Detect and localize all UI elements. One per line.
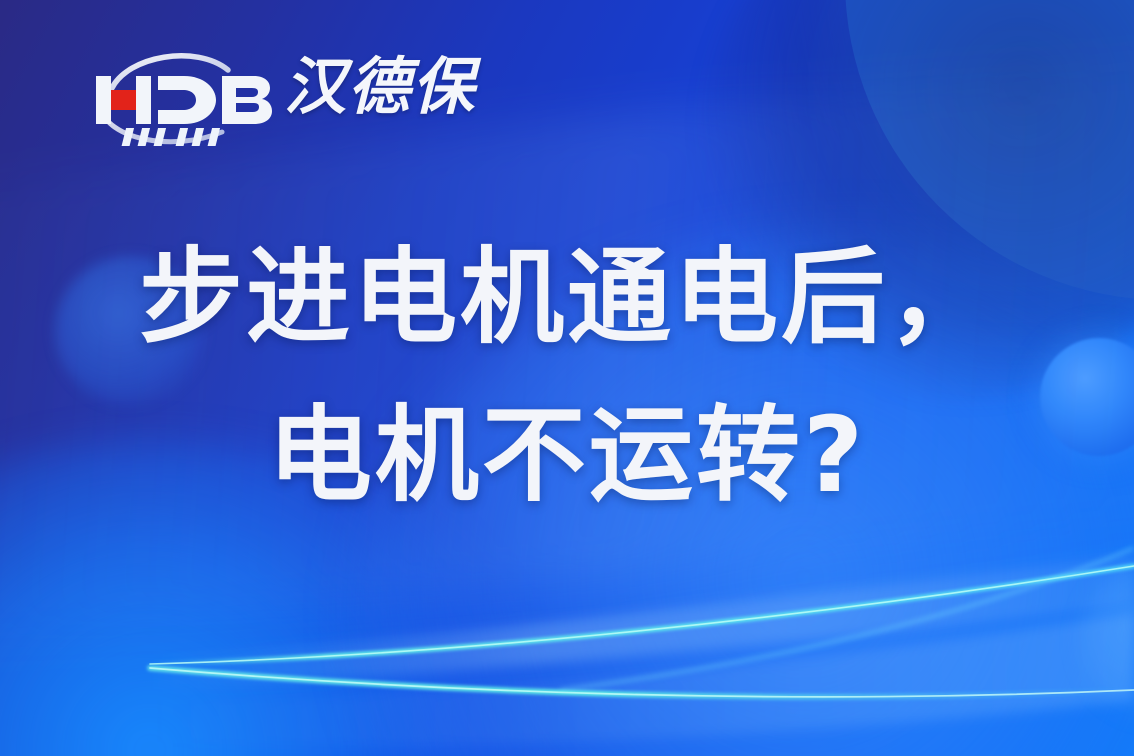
logo-letter-h [96, 76, 151, 124]
headline-line-1: 步进电机通电后， [0, 218, 1134, 376]
poster-canvas: 汉德保 步进电机通电后， 电机不运转? [0, 0, 1134, 756]
hdb-logo-icon [88, 48, 273, 156]
brand-logo[interactable]: 汉德保 [88, 48, 488, 156]
headline-line-2: 电机不运转? [0, 376, 1134, 534]
headline-block: 步进电机通电后， 电机不运转? [0, 218, 1134, 534]
logo-letter-b [222, 76, 272, 124]
logo-letter-d [158, 76, 216, 124]
brand-name-text: 汉德保 [284, 56, 476, 118]
